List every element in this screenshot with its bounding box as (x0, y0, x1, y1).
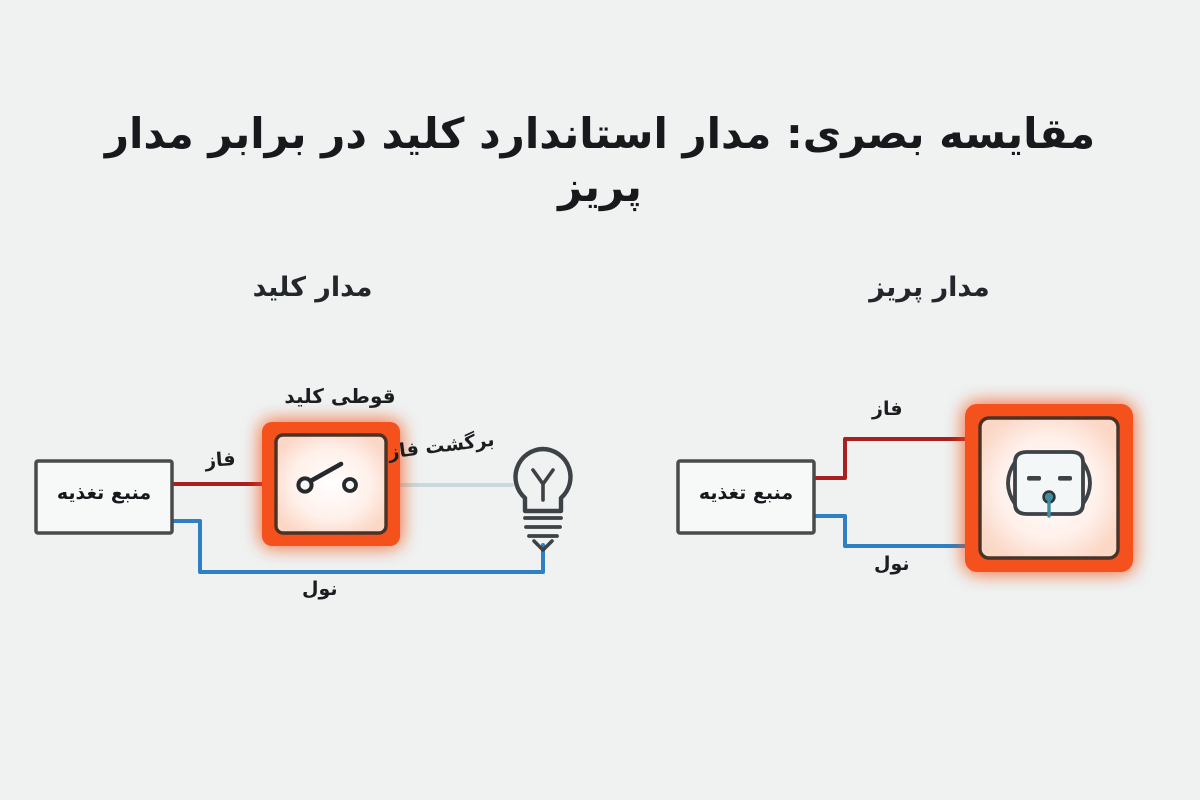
wire-label-neutral-right: نول (874, 553, 910, 575)
wire-label-phase-left: فاز (204, 448, 236, 472)
circuit-diagram-graphics (0, 0, 1200, 800)
power-supply-label-right: منبع تغذیه (676, 482, 816, 504)
socket-outlet-icon (1008, 452, 1090, 516)
socket-slot-right (1058, 476, 1072, 481)
light-bulb-icon (516, 449, 571, 550)
power-supply-label-left: منبع تغذیه (34, 482, 174, 504)
wire-label-neutral-left: نول (302, 578, 338, 600)
diagram-canvas: مقایسه بصری: مدار استاندارد کلید در براب… (0, 0, 1200, 800)
wire-label-phase-right: فاز (872, 398, 903, 420)
socket-slot-left (1027, 476, 1041, 481)
switch-box-label: قوطی کلید (250, 384, 430, 408)
switch-box-highlight (262, 422, 400, 546)
